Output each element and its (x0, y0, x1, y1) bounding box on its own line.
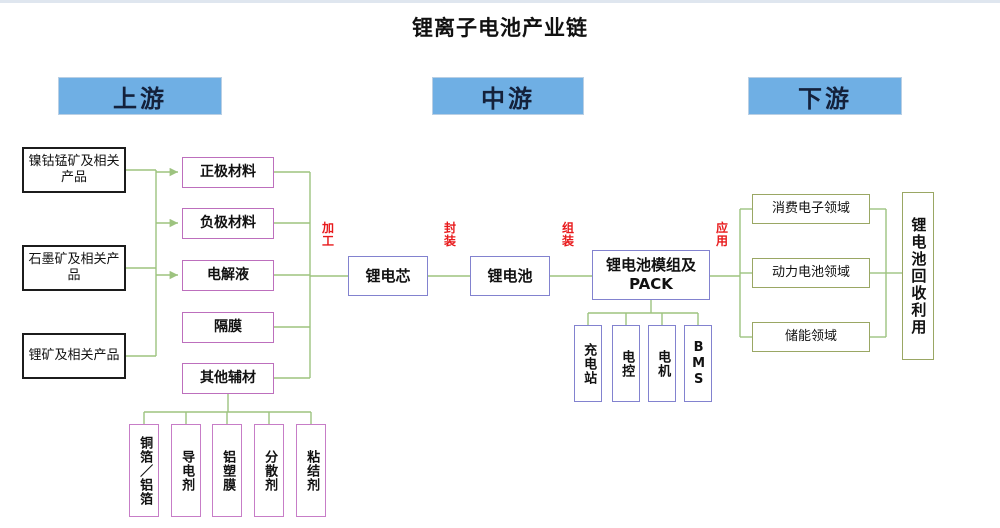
sub-material-node[interactable]: 粘结剂 (296, 424, 326, 517)
recycling-node[interactable]: 锂电池回收利用 (902, 192, 934, 360)
raw-material-node[interactable]: 镍钴锰矿及相关产品 (22, 147, 126, 193)
material-node[interactable]: 其他辅材 (182, 363, 274, 394)
raw-material-node[interactable]: 石墨矿及相关产品 (22, 245, 126, 291)
application-node[interactable]: 动力电池领域 (752, 258, 870, 288)
midstream-sub-node[interactable]: BMS (684, 325, 712, 402)
material-node[interactable]: 隔膜 (182, 312, 274, 343)
stage-header-label: 上游 (113, 79, 167, 114)
diagram-canvas: 锂离子电池产业链 上游 中游 下游 镍钴锰矿及相关产品 石墨矿及相关产品 锂矿及… (0, 0, 1000, 528)
stage-header-label: 下游 (798, 79, 852, 114)
stage-header-upstream: 上游 (58, 77, 222, 115)
midstream-sub-node[interactable]: 充电站 (574, 325, 602, 402)
edge-label-assembly: 组装 (559, 222, 577, 247)
midstream-node-battery[interactable]: 锂电池 (470, 256, 550, 296)
edge-label-packaging: 封装 (441, 222, 459, 247)
sub-material-node[interactable]: 铜箔／铝箔 (129, 424, 159, 517)
midstream-sub-node[interactable]: 电控 (612, 325, 640, 402)
application-node[interactable]: 消费电子领域 (752, 194, 870, 224)
stage-header-label: 中游 (481, 79, 535, 114)
edge-label-application: 应用 (713, 222, 731, 247)
edge-label-processing: 加工 (319, 222, 337, 247)
sub-material-node[interactable]: 铝塑膜 (212, 424, 242, 517)
stage-header-midstream: 中游 (432, 77, 584, 115)
sub-material-node[interactable]: 导电剂 (171, 424, 201, 517)
stage-header-downstream: 下游 (748, 77, 902, 115)
raw-material-node[interactable]: 锂矿及相关产品 (22, 333, 126, 379)
sub-material-node[interactable]: 分散剂 (254, 424, 284, 517)
midstream-node-module-pack[interactable]: 锂电池模组及PACK (592, 250, 710, 300)
midstream-sub-node[interactable]: 电机 (648, 325, 676, 402)
page-title: 锂离子电池产业链 (0, 12, 1000, 42)
material-node[interactable]: 电解液 (182, 260, 274, 291)
material-node[interactable]: 负极材料 (182, 208, 274, 239)
midstream-node-cell[interactable]: 锂电芯 (348, 256, 428, 296)
application-node[interactable]: 储能领域 (752, 322, 870, 352)
material-node[interactable]: 正极材料 (182, 157, 274, 188)
